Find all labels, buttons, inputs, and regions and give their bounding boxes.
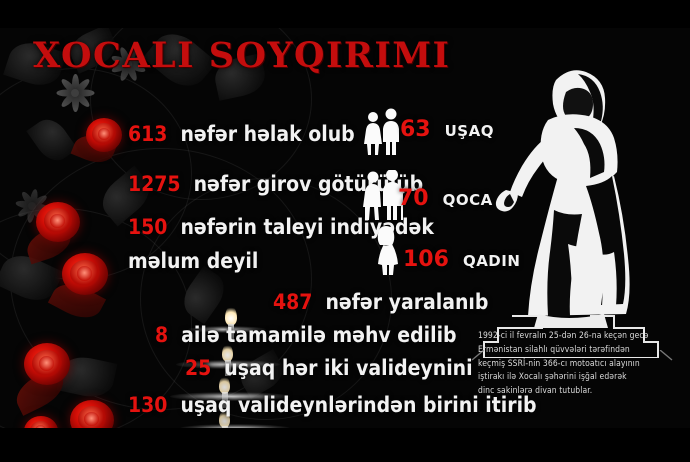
- page-title: XOCALI SOYQIRIMI: [33, 38, 450, 73]
- historical-caption: 1992-ci il fevralın 25-dən 26-na keçən g…: [478, 330, 674, 399]
- daisy-flower-icon: [52, 70, 98, 116]
- stat-row-orphans-both-parents: 25 uşaq hər iki valideynini: [185, 356, 473, 380]
- red-rose-icon: [62, 253, 108, 295]
- stat-label: nəfər yaralanıb: [325, 290, 488, 314]
- caption-line: keçmiş SSRİ-nin 366-cı motoatıcı alayını…: [478, 358, 674, 372]
- xocali-genocide-poster: XOCALI SOYQIRIMI 613 nəfər həlak olub 12…: [0, 0, 690, 462]
- caption-line: 1992-ci il fevralın 25-dən 26-na keçən g…: [478, 330, 674, 344]
- stat-label: nəfər həlak olub: [180, 122, 354, 146]
- caption-line: Ermənistan silahlı qüvvələri tərəfindən: [478, 344, 674, 358]
- stat-row-wounded: 487 nəfər yaralanıb: [273, 290, 488, 314]
- stat-label: ailə tamamilə məhv edilib: [181, 323, 456, 347]
- caption-line: iştirakı ilə Xocalı şəhərini işğal edərə…: [478, 371, 674, 385]
- stat-number: 63: [400, 117, 431, 142]
- stat-side-women: 106 QADIN: [403, 247, 520, 272]
- woman-icon: [372, 225, 400, 275]
- stat-number: 70: [398, 186, 429, 211]
- red-rose-icon: [86, 118, 122, 152]
- red-rose-icon: [24, 343, 70, 385]
- stat-number: 1275: [128, 172, 181, 196]
- stat-row-orphans-one-parent: 130 uşaq valideynlərindən birini itirib: [128, 393, 537, 417]
- stat-number: 613: [128, 122, 167, 146]
- stat-number: 130: [128, 393, 167, 417]
- mourning-woman-monument: [482, 58, 682, 358]
- caption-line: dinc sakinlərə divan tutublar.: [478, 385, 674, 399]
- stat-label: uşaq hər iki valideynini: [224, 356, 472, 380]
- stat-number: 25: [185, 356, 211, 380]
- stat-label: QADIN: [463, 252, 520, 270]
- stat-row-families-destroyed: 8 ailə tamamilə məhv edilib: [155, 323, 457, 347]
- stat-label: QOCA: [443, 191, 493, 209]
- stat-number: 150: [128, 215, 167, 239]
- stat-side-children: 63 UŞAQ: [400, 117, 494, 142]
- red-rose-icon: [36, 202, 80, 242]
- stat-number: 8: [155, 323, 168, 347]
- stat-row-missing-continued: məlum deyil: [128, 249, 258, 273]
- two-children-icon: [363, 108, 403, 156]
- stat-side-elderly: 70 QOCA: [398, 186, 493, 211]
- stat-number: 487: [273, 290, 312, 314]
- stat-number: 106: [403, 247, 449, 272]
- stat-label: məlum deyil: [128, 249, 258, 273]
- stat-row-deaths: 613 nəfər həlak olub: [128, 122, 355, 146]
- stat-label: UŞAQ: [445, 122, 494, 140]
